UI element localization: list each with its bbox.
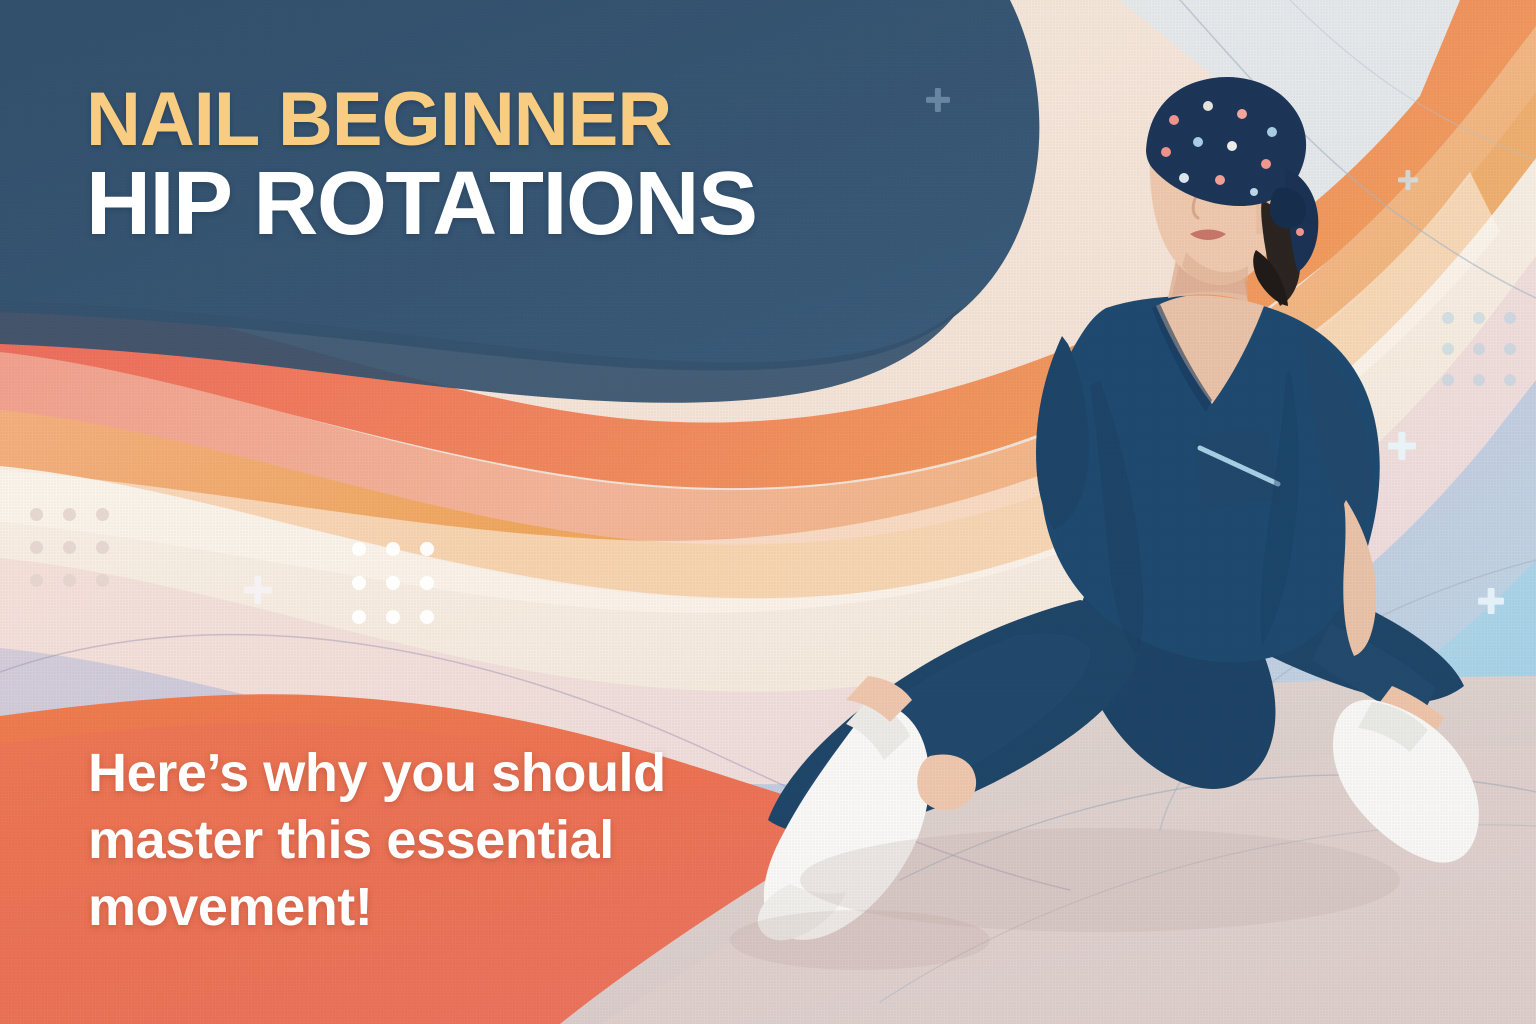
subtitle-line-2: master this essential xyxy=(88,807,788,874)
subtitle-block: Here’s why you should master this essent… xyxy=(88,740,788,941)
dot-grid-left-upper xyxy=(30,508,109,587)
plus-icon-navy-top xyxy=(926,88,950,112)
dot-grid-right-faint xyxy=(1442,312,1516,386)
plus-icon-periwinkle xyxy=(244,576,272,604)
headline-line-2: HIP ROTATIONS xyxy=(86,161,886,248)
plus-icon-blue-right-top xyxy=(1398,170,1418,190)
subtitle-line-1: Here’s why you should xyxy=(88,740,788,807)
plus-icon-lightblue-mid xyxy=(1388,432,1416,460)
subtitle-line-3: movement! xyxy=(88,874,788,941)
plus-icon-lightblue-low xyxy=(1478,588,1504,614)
headline-block: NAIL BEGINNER HIP ROTATIONS xyxy=(86,84,886,248)
dot-grid-center xyxy=(352,542,434,624)
headline-line-1: NAIL BEGINNER xyxy=(86,84,886,157)
promo-poster: NAIL BEGINNER HIP ROTATIONS Here’s why y… xyxy=(0,0,1536,1024)
